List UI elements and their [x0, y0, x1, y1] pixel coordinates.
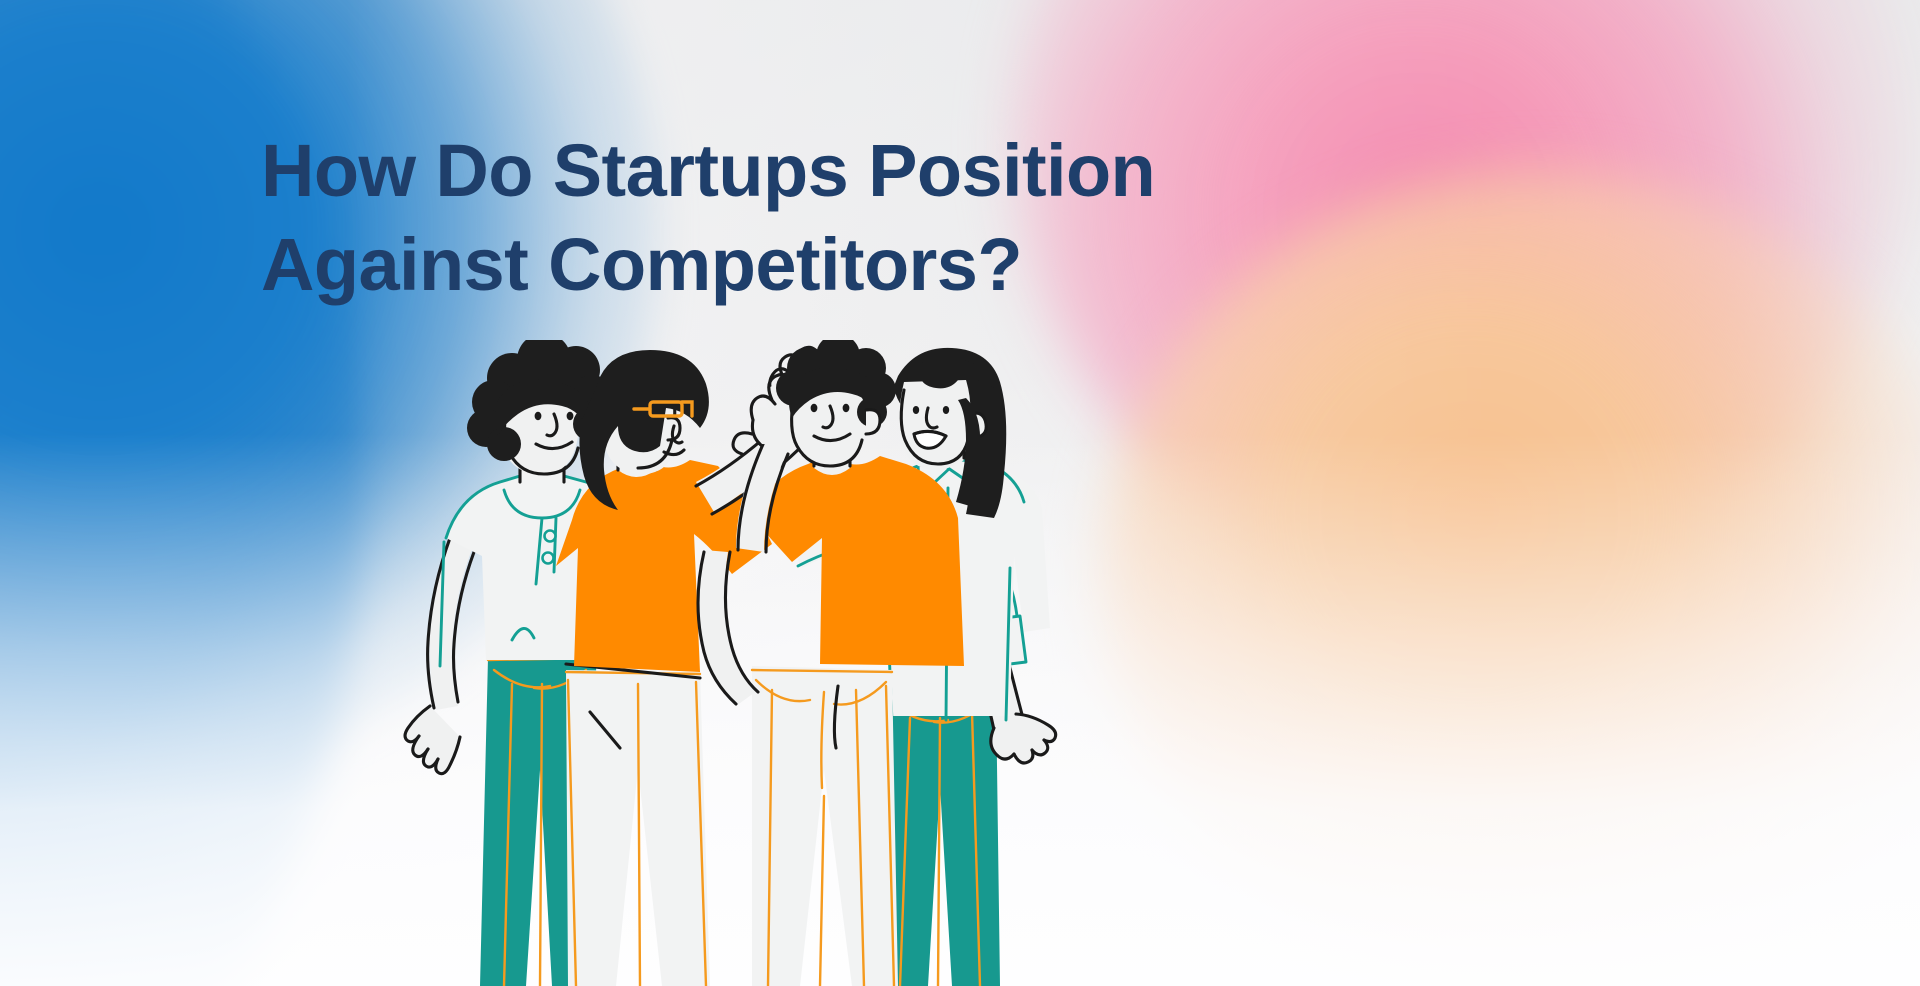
- hero-banner: How Do Startups Position Against Competi…: [0, 0, 1920, 986]
- hero-illustration: .ol { fill:none; stroke:#1a1a1a; stroke-…: [400, 340, 1080, 986]
- page-title: How Do Startups Position Against Competi…: [261, 124, 1261, 312]
